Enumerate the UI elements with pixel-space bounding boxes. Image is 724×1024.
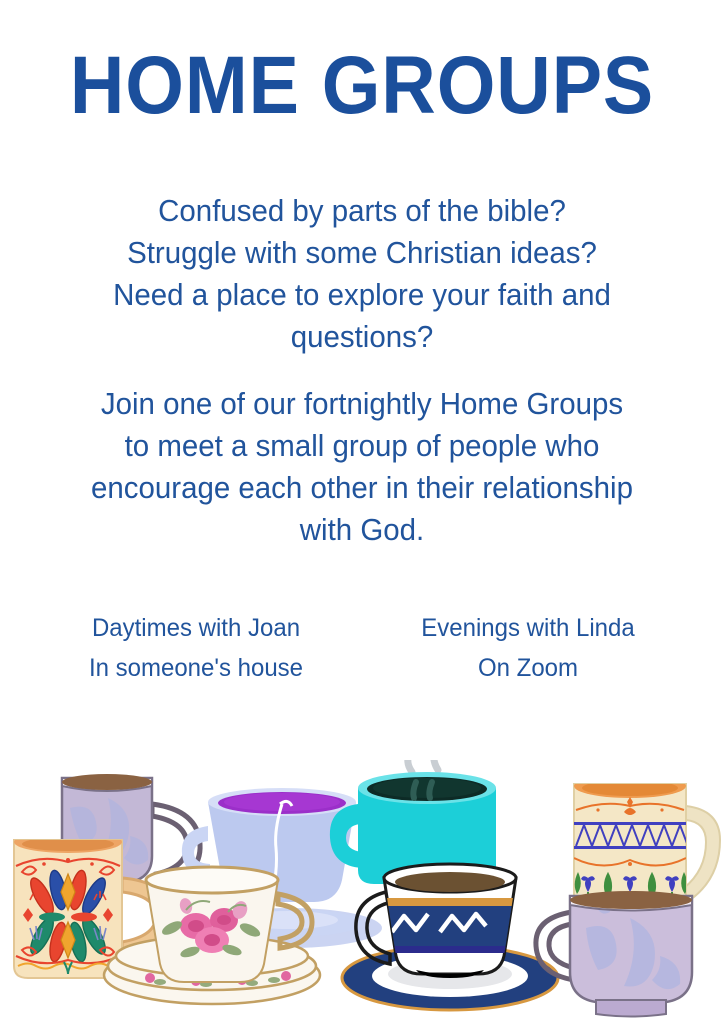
poster: HOME GROUPS Confused by parts of the bib… [0, 0, 724, 1024]
intro-line: Need a place to explore your faith and [18, 274, 706, 316]
session-column-daytimes: Daytimes with Joan In someone's house [52, 608, 340, 688]
description-paragraph: Join one of our fortnightly Home Groups … [18, 383, 706, 551]
session-where: In someone's house [52, 648, 340, 688]
session-column-evenings: Evenings with Linda On Zoom [384, 608, 672, 688]
intro-paragraph: Confused by parts of the bible? Struggle… [18, 190, 706, 358]
session-where: On Zoom [384, 648, 672, 688]
session-details: Daytimes with Joan In someone's house Ev… [46, 608, 678, 688]
intro-line: Confused by parts of the bible? [18, 190, 706, 232]
intro-line: questions? [18, 316, 706, 358]
description-line: Join one of our fortnightly Home Groups [18, 383, 706, 425]
description-line: with God. [18, 509, 706, 551]
page-title: HOME GROUPS [29, 44, 695, 128]
description-line: to meet a small group of people who [18, 425, 706, 467]
description-line: encourage each other in their relationsh… [18, 467, 706, 509]
lavender-swirl-cup-right [536, 891, 692, 1017]
intro-line: Struggle with some Christian ideas? [18, 232, 706, 274]
navy-zigzag-cup-and-saucer [342, 864, 558, 1010]
session-when: Daytimes with Joan [52, 608, 340, 648]
teacups-illustration [0, 760, 724, 1024]
session-when: Evenings with Linda [384, 608, 672, 648]
